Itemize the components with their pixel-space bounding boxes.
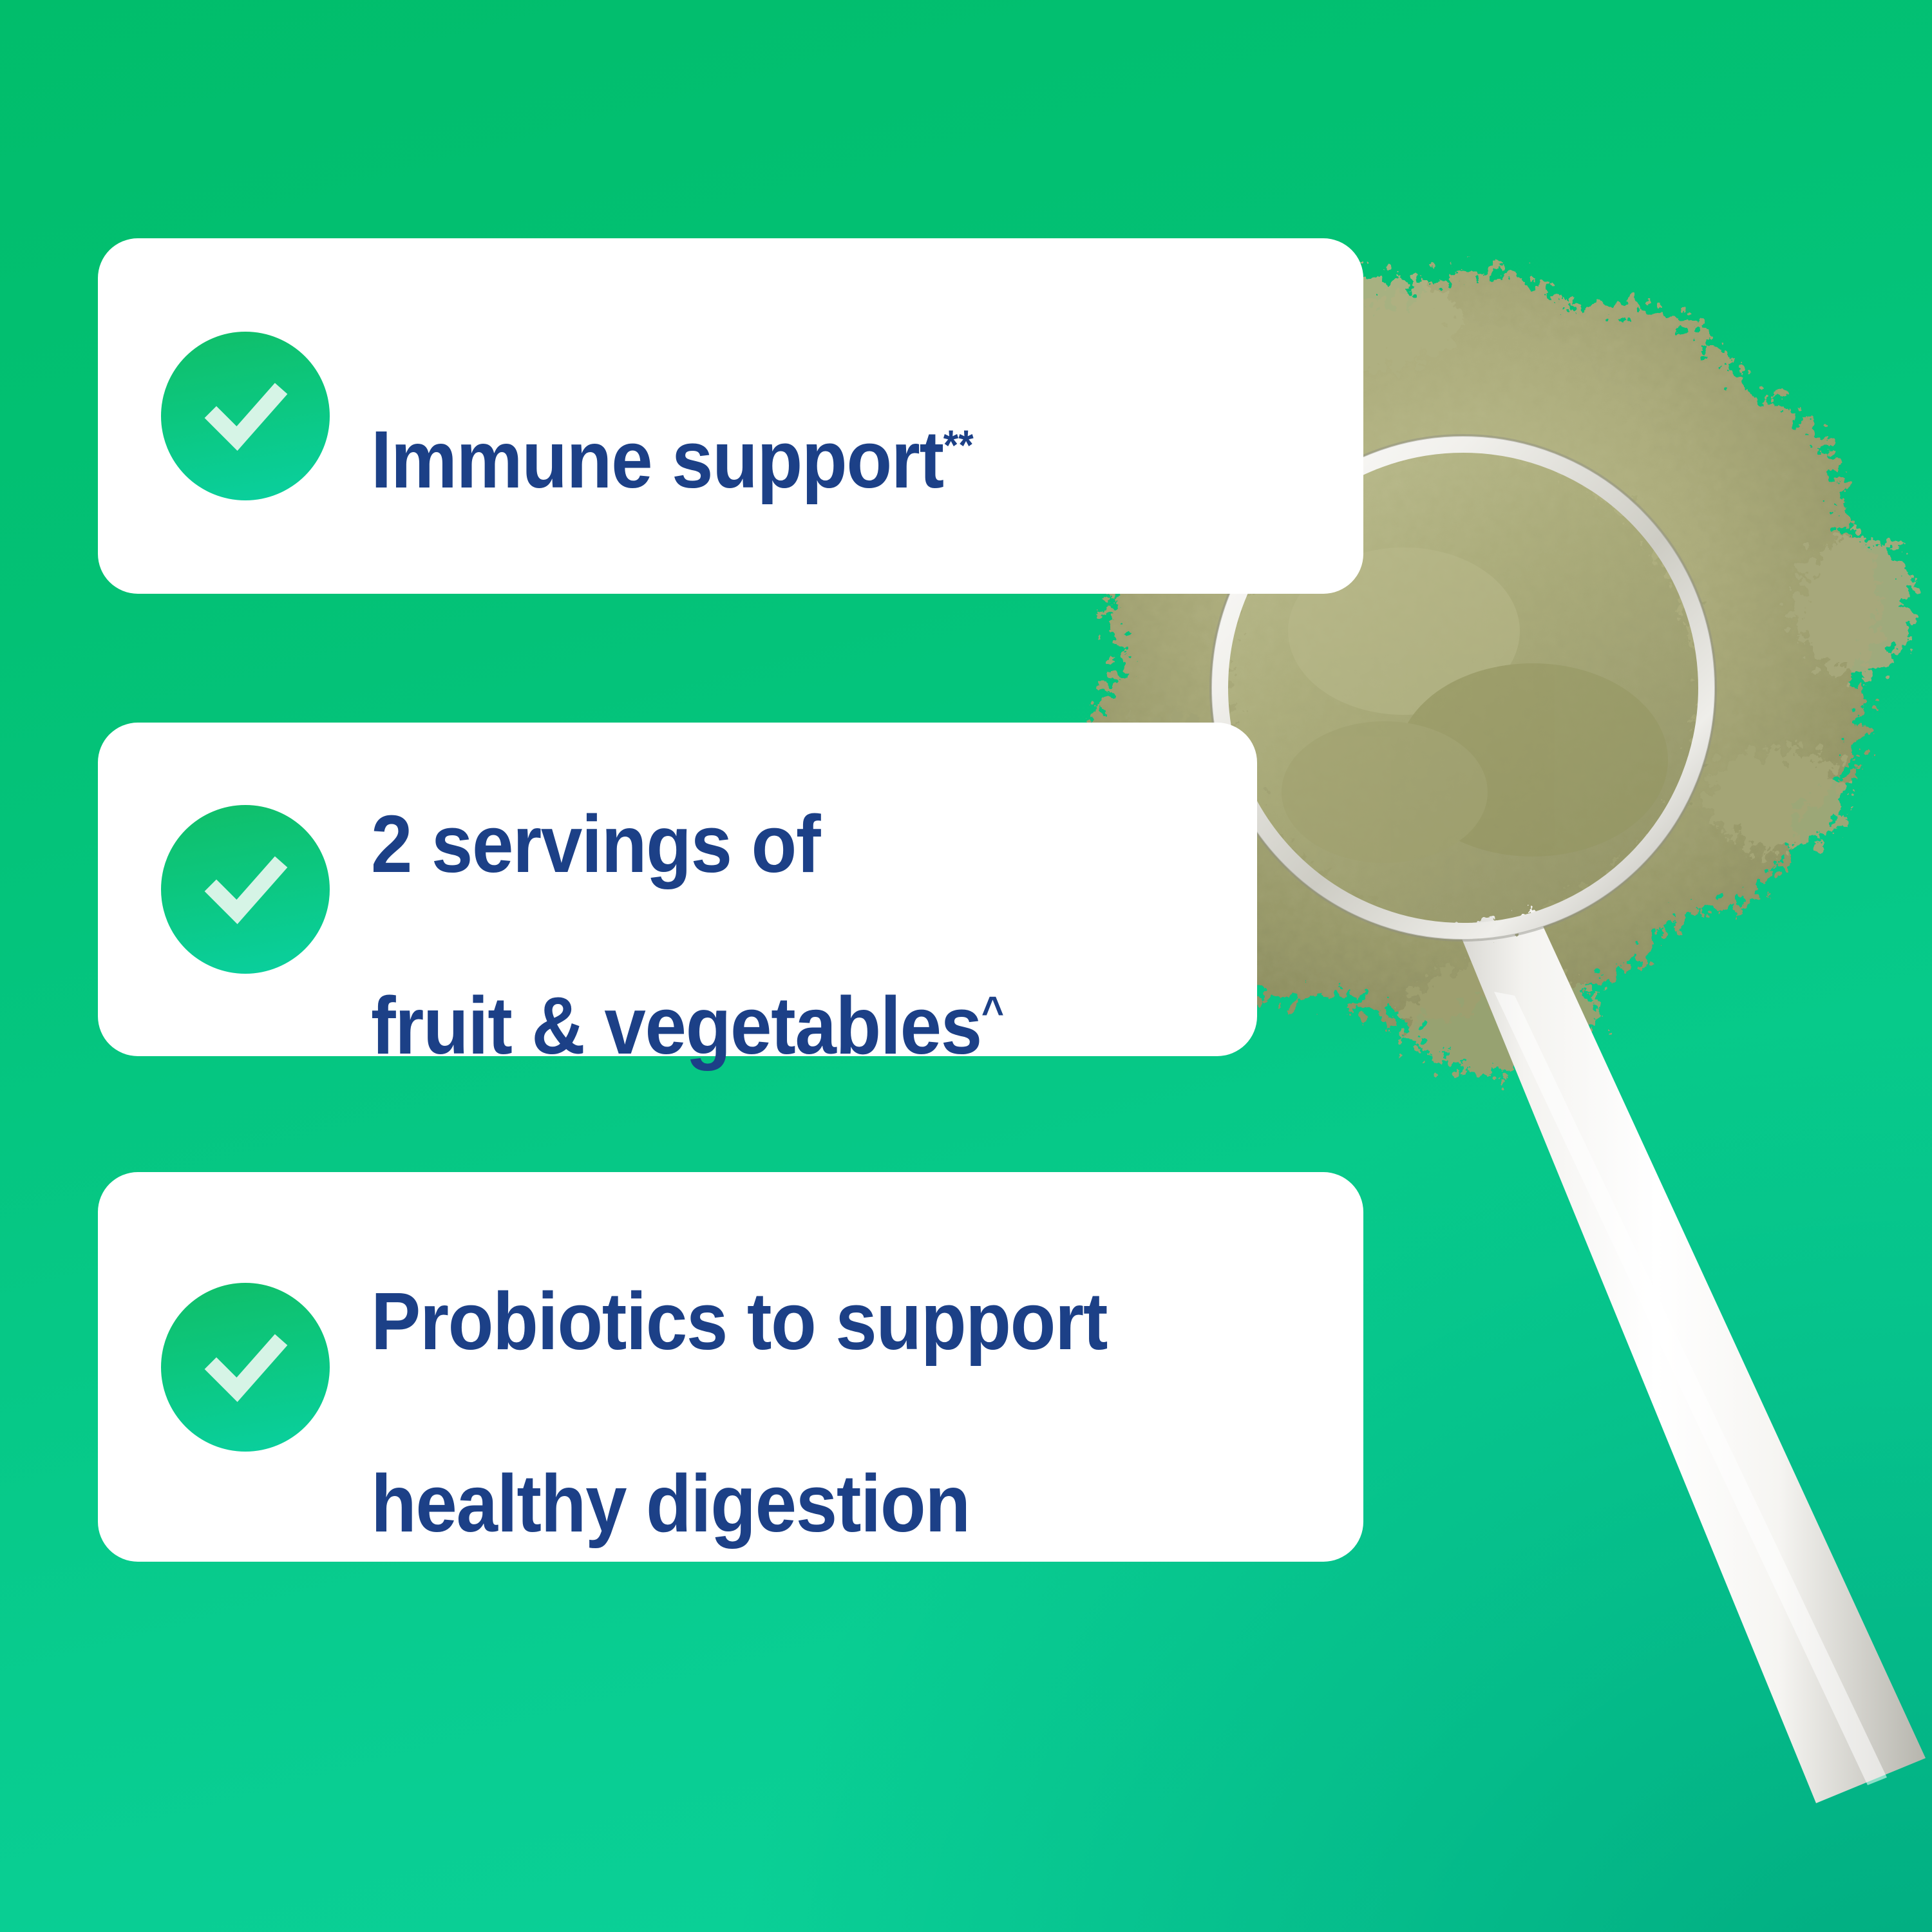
check-icon: [161, 332, 330, 500]
footnote-marker-caret: ^: [981, 988, 1004, 1035]
benefit-label-1: Immune support**: [371, 323, 974, 505]
benefit-label-3: Probiotics to support healthy digestion: [371, 1185, 1107, 1548]
promo-graphic: Immune support** 2 servings of fruit & v…: [0, 0, 1932, 1932]
check-icon: [161, 1283, 330, 1452]
benefit-label-2: 2 servings of fruit & vegetables^: [371, 708, 1004, 1071]
benefit-card-fruit-and-vegetables: 2 servings of fruit & vegetables^: [98, 723, 1257, 1056]
footnote-marker-asterisks: **: [943, 422, 974, 469]
check-icon: [161, 805, 330, 974]
benefit-card-probiotics-digestion: Probiotics to support healthy digestion: [98, 1172, 1363, 1562]
benefit-card-immune-support: Immune support**: [98, 238, 1363, 594]
